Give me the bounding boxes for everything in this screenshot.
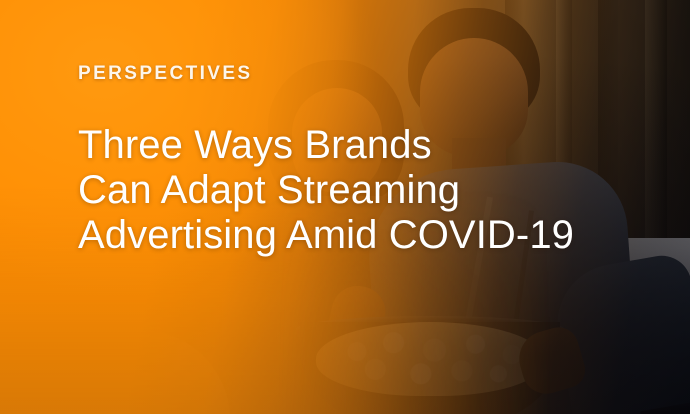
headline-line-1: Three Ways Brands bbox=[78, 123, 660, 168]
perspectives-hero-banner: PERSPECTIVES Three Ways Brands Can Adapt… bbox=[0, 0, 690, 414]
headline-line-3: Advertising Amid COVID-19 bbox=[78, 213, 660, 258]
headline-line-2: Can Adapt Streaming bbox=[78, 168, 660, 213]
eyebrow-label: PERSPECTIVES bbox=[78, 64, 660, 83]
banner-content: PERSPECTIVES Three Ways Brands Can Adapt… bbox=[78, 64, 660, 258]
page-title: Three Ways Brands Can Adapt Streaming Ad… bbox=[78, 123, 660, 258]
